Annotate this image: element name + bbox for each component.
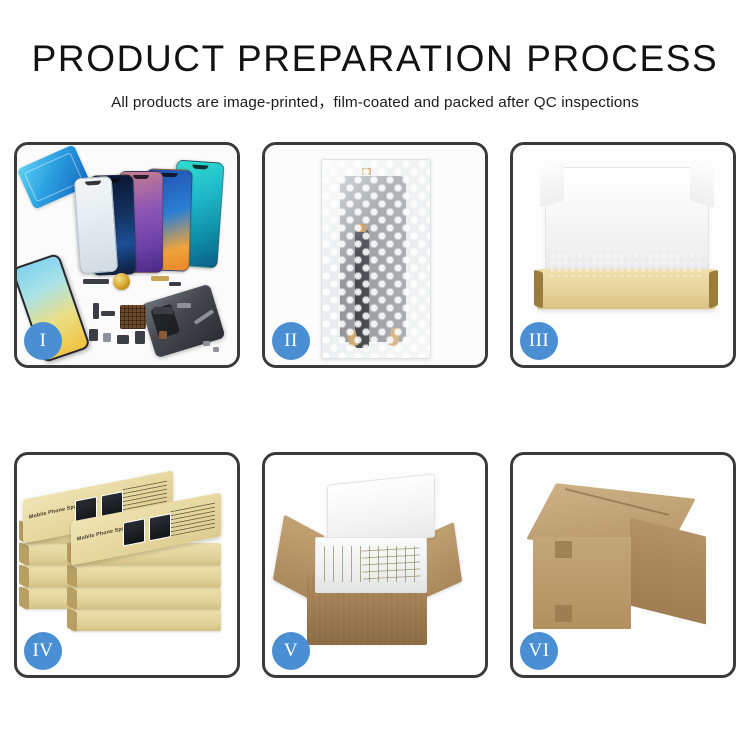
- process-step-panel-6[interactable]: VI: [510, 452, 736, 678]
- spare-part-icon: [89, 329, 98, 341]
- wrapped-parts-row-icon: [549, 253, 703, 277]
- carton-tape-tab-icon: [555, 541, 572, 558]
- box-product-image-icon: [123, 518, 145, 546]
- spare-part-icon: [93, 303, 99, 319]
- process-steps-grid: I II: [14, 142, 736, 685]
- spare-part-icon: [153, 307, 173, 314]
- process-step-panel-2[interactable]: II: [262, 142, 488, 368]
- process-step-panel-5[interactable]: V: [262, 452, 488, 678]
- step-number-badge: II: [272, 322, 310, 360]
- step-number-badge: V: [272, 632, 310, 670]
- page-subtitle: All products are image-printed，film-coat…: [0, 79, 750, 112]
- chip-grid-icon: [120, 305, 146, 329]
- packed-boxes-icon: [361, 543, 421, 580]
- spare-part-icon: [151, 276, 169, 281]
- process-step-panel-4[interactable]: Mobile Phone Spare Parts Mobile Phone Sp…: [14, 452, 240, 678]
- carton-tape-tab-icon: [555, 605, 572, 622]
- foam-insert-icon: [315, 537, 427, 593]
- plastic-sheen: [322, 160, 430, 358]
- screw-icon: [203, 341, 210, 346]
- box-product-image-icon: [149, 513, 171, 541]
- box-spec-lines-icon: [171, 502, 215, 537]
- page-header: PRODUCT PREPARATION PROCESS All products…: [0, 0, 750, 112]
- step-number-badge: III: [520, 322, 558, 360]
- screen-glass-icon: [74, 176, 119, 274]
- carton-front-face-icon: [533, 537, 631, 629]
- process-step-panel-1[interactable]: I: [14, 142, 240, 368]
- spare-part-icon: [177, 303, 191, 308]
- gold-component-icon: [113, 273, 130, 290]
- kraft-box-stack: Mobile Phone Spare Parts Mobile Phone Sp…: [23, 479, 233, 659]
- carton-side-face-icon: [630, 518, 706, 625]
- spare-part-icon: [101, 311, 115, 316]
- step-number-badge: VI: [520, 632, 558, 670]
- spare-part-icon: [135, 331, 145, 344]
- spare-part-icon: [103, 333, 111, 342]
- page-title: PRODUCT PREPARATION PROCESS: [0, 0, 750, 79]
- step-number-badge: I: [24, 322, 62, 360]
- spare-part-icon: [83, 279, 109, 284]
- process-step-panel-3[interactable]: III: [510, 142, 736, 368]
- spare-part-icon: [117, 335, 129, 344]
- phone-screen-fan: [77, 159, 237, 274]
- kraft-box-tray-icon: [537, 269, 715, 309]
- step-number-badge: IV: [24, 632, 62, 670]
- screw-icon: [213, 347, 219, 352]
- spare-part-icon: [169, 282, 181, 286]
- bubble-wrap-package: [321, 159, 431, 359]
- spare-part-icon: [159, 331, 167, 339]
